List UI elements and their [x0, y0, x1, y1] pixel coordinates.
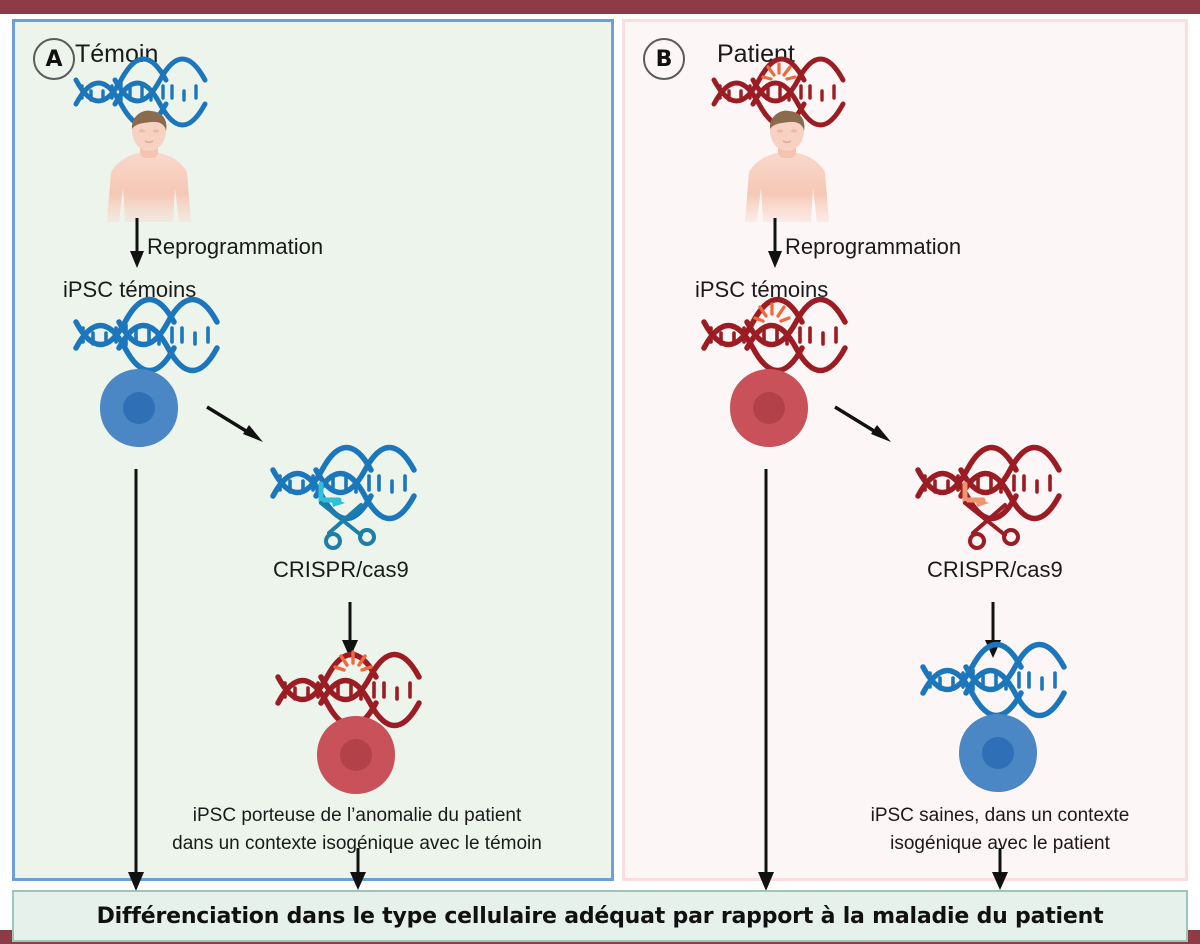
dna-helix-icon: [920, 657, 1072, 701]
panel-a-title: Témoin: [75, 40, 158, 69]
arrow-down-icon: [756, 469, 776, 893]
arrow-diagonal-icon: [833, 404, 895, 446]
panel-a: A Témoin: [12, 19, 614, 881]
differentiation-banner: Différenciation dans le type cellulaire …: [12, 890, 1188, 942]
banner-text: Différenciation dans le type cellulaire …: [97, 904, 1104, 929]
ipsc-label-b: iPSC témoins: [695, 277, 828, 303]
panel-b-letter: B: [656, 47, 673, 72]
crispr-label-b: CRISPR/cas9: [927, 557, 1063, 583]
arrow-down-icon: [348, 848, 368, 892]
crispr-label-a: CRISPR/cas9: [273, 557, 409, 583]
arrow-down-icon: [990, 848, 1010, 892]
mutation-burst-icon: [333, 650, 373, 678]
mutation-burst-icon: [753, 302, 791, 328]
cell-icon: [315, 714, 397, 796]
panel-a-letter-badge: A: [33, 38, 75, 80]
ipsc-label-a: iPSC témoins: [63, 277, 196, 303]
panel-b-letter-badge: B: [643, 38, 685, 80]
dna-helix-icon: [73, 74, 208, 110]
dna-helix-icon: [73, 315, 221, 355]
result-caption-a-line1: iPSC porteuse de l’anomalie du patient: [157, 802, 557, 830]
reprogrammation-label-b: Reprogrammation: [785, 234, 961, 260]
scissors-icon: [959, 497, 1029, 555]
arrow-diagonal-icon: [205, 404, 267, 446]
cell-icon: [98, 367, 180, 449]
scissors-icon: [315, 497, 385, 555]
cell-icon: [957, 712, 1039, 794]
arrow-down-icon: [127, 218, 147, 270]
reprogrammation-label-a: Reprogrammation: [147, 234, 323, 260]
person-torso-icon: [93, 110, 205, 228]
figure-root: A Témoin: [0, 0, 1200, 944]
person-torso-icon: [731, 110, 843, 228]
cell-icon: [728, 367, 810, 449]
arrow-down-icon: [765, 218, 785, 270]
arrow-down-icon: [126, 469, 146, 893]
panel-b: B Patient: [622, 19, 1188, 881]
result-caption-b-line1: iPSC saines, dans un contexte: [845, 802, 1155, 830]
panel-a-letter: A: [45, 47, 62, 72]
mutation-burst-icon: [761, 62, 797, 86]
